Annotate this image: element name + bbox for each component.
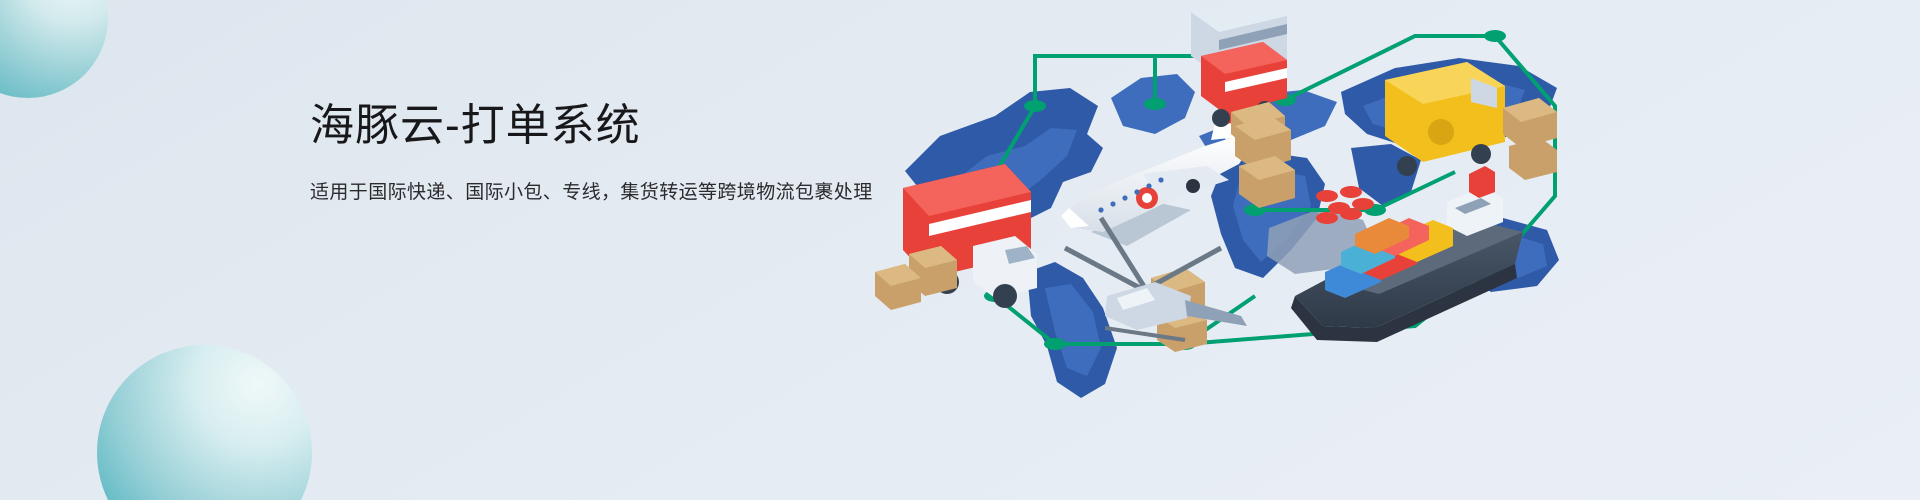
red-truck-wheel-rear <box>1212 109 1230 127</box>
isometric-world-logistics-illustration <box>855 0 1920 496</box>
node-greenland <box>1144 98 1166 110</box>
node-north-america <box>1024 100 1046 112</box>
yellow-van-logo <box>1428 119 1454 145</box>
decorative-circle-bottom-left <box>97 345 312 500</box>
airplane-engine-2 <box>1186 179 1200 193</box>
barrel-6 <box>1340 208 1362 220</box>
barrel-5 <box>1316 212 1338 224</box>
barrel-1 <box>1316 190 1338 202</box>
page-title: 海豚云-打单系统 <box>310 100 930 153</box>
barrel-4 <box>1352 198 1374 210</box>
ship-funnel <box>1469 166 1495 198</box>
yellow-van-box-2 <box>1509 138 1557 180</box>
banner-text-block: 海豚云-打单系统 适用于国际快递、国际小包、专线，集货转运等跨境物流包裹处理 <box>310 100 930 207</box>
page-subtitle: 适用于国际快递、国际小包、专线，集货转运等跨境物流包裹处理 <box>310 179 930 208</box>
airplane-engine-intake <box>1142 193 1152 203</box>
yellow-van-wheel-front <box>1471 144 1491 164</box>
node-south-america <box>1044 338 1066 350</box>
node-asia <box>1484 30 1506 42</box>
hero-banner: 海豚云-打单系统 适用于国际快递、国际小包、专线，集货转运等跨境物流包裹处理 <box>0 0 1920 500</box>
decorative-circle-top-left <box>0 0 108 98</box>
yellow-van-wheel-rear <box>1397 156 1417 176</box>
truck-wheel-front <box>993 284 1017 308</box>
cargo-truck-red <box>875 164 1037 310</box>
barrel-2 <box>1340 186 1362 198</box>
